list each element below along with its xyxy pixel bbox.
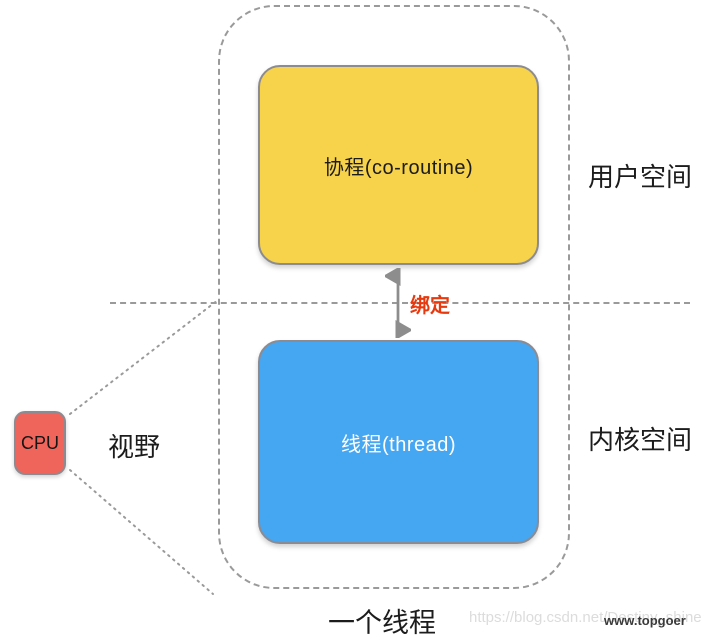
thread-label: 线程(thread) <box>341 428 456 457</box>
binding-arrow-icon <box>385 268 411 338</box>
field-of-view-label: 视野 <box>108 427 160 464</box>
fov-ray-lower <box>70 470 213 594</box>
kernel-space-label: 内核空间 <box>588 420 692 457</box>
coroutine-label: 协程(co-routine) <box>324 151 473 180</box>
coroutine-box[interactable]: 协程(co-routine) <box>258 65 539 265</box>
fov-ray-upper <box>70 300 218 414</box>
site-watermark: www.topgoer <box>604 613 686 628</box>
diagram-canvas: 协程(co-routine) 线程(thread) 绑定 CPU 视野 用户空间… <box>0 0 725 636</box>
cpu-box[interactable]: CPU <box>14 411 66 475</box>
user-space-label: 用户空间 <box>588 157 692 194</box>
binding-label: 绑定 <box>410 289 450 318</box>
one-thread-label: 一个线程 <box>328 601 436 636</box>
cpu-label: CPU <box>21 433 59 454</box>
thread-box[interactable]: 线程(thread) <box>258 340 539 544</box>
